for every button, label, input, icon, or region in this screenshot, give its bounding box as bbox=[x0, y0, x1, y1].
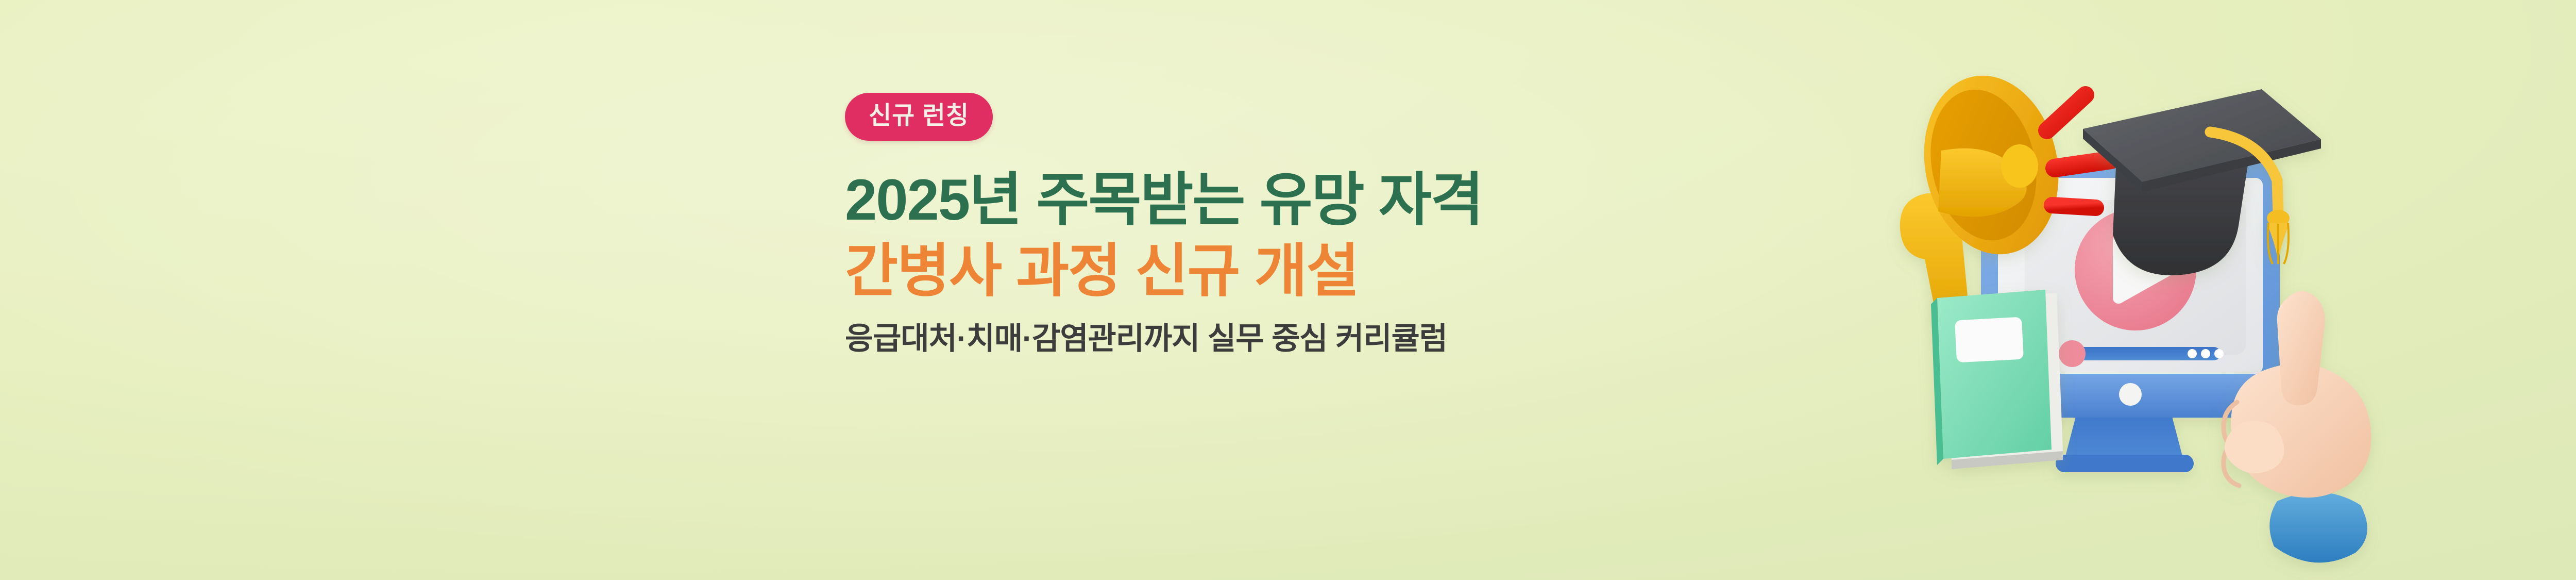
promo-banner: 신규 런칭 2025년 주목받는 유망 자격 간병사 과정 신규 개설 응급대처… bbox=[0, 0, 2576, 580]
book-cover bbox=[1937, 290, 2052, 459]
progress-dot bbox=[2188, 349, 2197, 358]
banner-subtitle: 응급대처·치매·감염관리까지 실무 중심 커리큘럼 bbox=[845, 320, 1875, 357]
sound-line bbox=[2055, 160, 2111, 168]
monitor-stand-base bbox=[2056, 455, 2194, 472]
hand-sleeve bbox=[2269, 492, 2367, 563]
progress-dot bbox=[2214, 349, 2224, 358]
progress-dot bbox=[2201, 349, 2210, 358]
book-icon bbox=[1931, 290, 2063, 469]
headline-line-1: 2025년 주목받는 유망 자격 bbox=[845, 167, 1875, 234]
sound-line bbox=[2047, 95, 2086, 130]
progress-knob bbox=[2059, 340, 2086, 367]
headline-line-2: 간병사 과정 신규 개설 bbox=[845, 238, 1875, 305]
sound-line bbox=[2052, 205, 2096, 208]
monitor-home-button bbox=[2119, 383, 2142, 406]
book-label bbox=[1955, 317, 2024, 363]
megaphone-tip bbox=[2001, 144, 2038, 188]
graduation-cap-icon bbox=[2083, 89, 2321, 275]
new-launch-badge: 신규 런칭 bbox=[845, 93, 993, 141]
banner-copy: 신규 런칭 2025년 주목받는 유망 자격 간병사 과정 신규 개설 응급대처… bbox=[845, 93, 1875, 357]
elearning-illustration bbox=[1855, 10, 2432, 580]
progress-track bbox=[2066, 347, 2221, 360]
